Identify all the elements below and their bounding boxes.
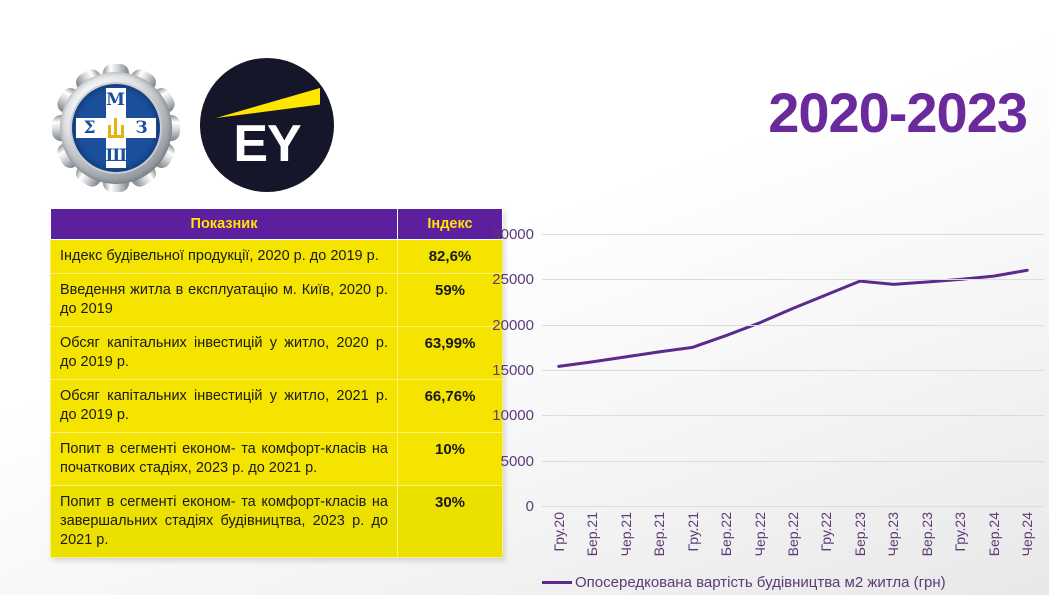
- kpi-table: Показник Індекс Індекс будівельної проду…: [50, 208, 503, 558]
- chart-x-tick-label: Чер.24: [1019, 512, 1035, 556]
- trident-icon: [108, 118, 124, 138]
- cell-indicator: Попит в сегменті економ- та комфорт-клас…: [51, 486, 398, 558]
- chart-gridline: [542, 506, 1044, 507]
- chart-y-tick-label: 5000: [464, 454, 534, 469]
- table-row: Введення житла в експлуатацію м. Київ, 2…: [51, 274, 503, 327]
- chart-x-tick-label: Вер.21: [651, 512, 667, 556]
- ey-logo-icon: EY: [200, 58, 334, 192]
- chart-x-tick-label: Чер.23: [885, 512, 901, 556]
- cell-indicator: Обсяг капітальних інвестицій у житло, 20…: [51, 380, 398, 433]
- table-row: Обсяг капітальних інвестицій у житло, 20…: [51, 327, 503, 380]
- chart-x-tick-label: Бер.22: [718, 512, 734, 556]
- chart-x-tick-label: Гру.20: [551, 512, 567, 551]
- chart-legend: Опосередкована вартість будівництва м2 ж…: [542, 574, 946, 591]
- cell-indicator: Індекс будівельної продукції, 2020 р. до…: [51, 240, 398, 274]
- chart-gridline: [542, 461, 1044, 462]
- ey-logo-text: EY: [200, 118, 334, 170]
- logo-group: М Σ З Ш EY: [48, 58, 328, 198]
- page-title: 2020-2023: [768, 82, 1027, 144]
- construction-cost-chart: 050001000015000200002500030000 Гру.20Бер…: [486, 222, 1046, 592]
- emblem-letter-sh: Ш: [106, 148, 126, 165]
- cell-indicator: Попит в сегменті економ- та комфорт-клас…: [51, 433, 398, 486]
- chart-x-tick-label: Бер.21: [584, 512, 600, 556]
- kpi-table-body: Індекс будівельної продукції, 2020 р. до…: [51, 240, 503, 558]
- msz-sh-emblem-icon: М Σ З Ш: [48, 60, 183, 195]
- chart-y-tick-label: 30000: [464, 227, 534, 242]
- emblem-letter-m: М: [106, 92, 126, 109]
- table-row: Попит в сегменті економ- та комфорт-клас…: [51, 433, 503, 486]
- chart-gridline: [542, 415, 1044, 416]
- emblem-blue-disc: М Σ З Ш: [72, 84, 160, 172]
- legend-line-swatch: [542, 581, 572, 584]
- chart-x-axis-labels: Гру.20Бер.21Чер.21Вер.21Гру.21Бер.22Чер.…: [542, 512, 1044, 574]
- emblem-letter-sigma: Σ: [80, 120, 100, 137]
- chart-gridline: [542, 325, 1044, 326]
- chart-gridline: [542, 234, 1044, 235]
- ey-beam-icon: [216, 88, 320, 118]
- chart-y-tick-label: 20000: [464, 318, 534, 333]
- chart-x-tick-label: Гру.23: [952, 512, 968, 551]
- chart-gridline: [542, 370, 1044, 371]
- slide-root: М Σ З Ш EY 2020-2023 Показник Індекс: [0, 0, 1049, 595]
- chart-x-tick-label: Чер.22: [752, 512, 768, 556]
- chart-y-tick-label: 10000: [464, 408, 534, 423]
- chart-x-tick-label: Вер.23: [919, 512, 935, 556]
- cell-indicator: Обсяг капітальних інвестицій у житло, 20…: [51, 327, 398, 380]
- legend-label: Опосередкована вартість будівництва м2 ж…: [575, 574, 946, 591]
- chart-y-tick-label: 25000: [464, 272, 534, 287]
- chart-x-tick-label: Бер.24: [986, 512, 1002, 556]
- emblem-letter-z: З: [132, 120, 152, 137]
- table-header-row: Показник Індекс: [51, 209, 503, 240]
- chart-plot-area: 050001000015000200002500030000: [542, 234, 1044, 506]
- chart-y-tick-label: 15000: [464, 363, 534, 378]
- cell-indicator: Введення житла в експлуатацію м. Київ, 2…: [51, 274, 398, 327]
- column-header-indicator: Показник: [51, 209, 398, 240]
- chart-x-tick-label: Вер.22: [785, 512, 801, 556]
- table-row: Обсяг капітальних інвестицій у житло, 20…: [51, 380, 503, 433]
- table-row: Індекс будівельної продукції, 2020 р. до…: [51, 240, 503, 274]
- chart-x-tick-label: Гру.21: [685, 512, 701, 551]
- chart-y-tick-label: 0: [464, 499, 534, 514]
- kpi-table-wrapper: Показник Індекс Індекс будівельної проду…: [50, 208, 484, 558]
- chart-gridline: [542, 279, 1044, 280]
- chart-x-tick-label: Чер.21: [618, 512, 634, 556]
- chart-x-tick-label: Бер.23: [852, 512, 868, 556]
- chart-x-tick-label: Гру.22: [818, 512, 834, 551]
- table-row: Попит в сегменті економ- та комфорт-клас…: [51, 486, 503, 558]
